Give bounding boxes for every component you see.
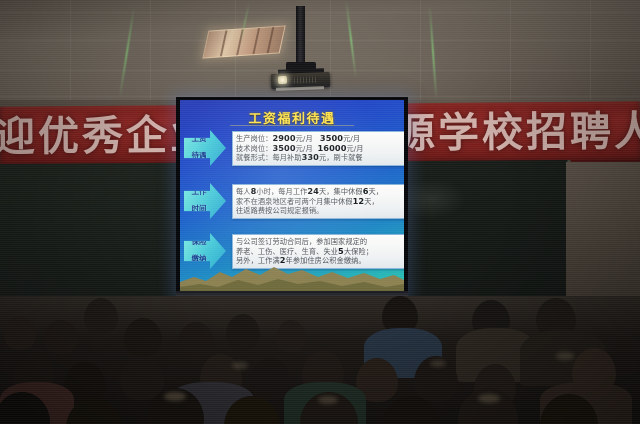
section-arrow-wage: 工资 待遇 — [184, 130, 226, 166]
arrow-label-line2: 时间 — [186, 205, 212, 214]
slide-text-line: 每人8小时，每月工作24天，集中休假6天， — [236, 187, 402, 197]
section-arrow-worktime: 工作 时间 — [184, 183, 226, 219]
slide-text-line: 往返路费按公司规定报销。 — [236, 206, 402, 216]
arrow-label-line1: 工作 — [186, 188, 212, 197]
audience-head — [84, 298, 118, 334]
hair-highlight — [232, 362, 248, 369]
slide-text-line: 家不在酒泉地区者可两个月集中休假12天， — [236, 197, 402, 207]
projector-mount-pole — [296, 6, 305, 64]
hair-highlight — [430, 360, 446, 367]
audience-head — [276, 320, 306, 352]
audience-head — [178, 322, 214, 358]
projector-vent — [292, 77, 318, 84]
hair-highlight — [556, 352, 574, 360]
audience-head — [4, 316, 36, 350]
section-textbox-wage: 生产岗位：2900元/月 3500元/月 技术岗位：3500元/月 16000元… — [232, 131, 404, 166]
slide-text-line: 与公司签订劳动合同后，参加国家规定的 — [236, 237, 402, 247]
audience-head — [124, 318, 162, 356]
projected-slide: 工资福利待遇 工资 待遇 生产岗位：2900元/月 3500元/月 技术岗位：3… — [180, 100, 404, 294]
slide-text-line: 养老、工伤、医疗、生育、失业5大保险； — [236, 247, 402, 257]
ceiling — [0, 0, 640, 108]
arrow-label-line1: 保险 — [186, 238, 212, 247]
audience-head — [250, 358, 290, 400]
hair-highlight — [478, 394, 500, 403]
audience-head — [226, 314, 260, 350]
slide-mountain-graphic — [180, 258, 404, 294]
hair-highlight — [318, 396, 338, 404]
slide-text-line: 就餐形式：每月补助330元，刷卡就餐 — [236, 153, 402, 163]
lecture-hall-photo: 迎优秀企业 源学校招聘人才 工资福利待遇 工资 待遇 生产岗位：2900元/月 … — [0, 0, 640, 424]
hair-highlight — [164, 392, 186, 401]
back-wall-right-panel — [566, 162, 640, 312]
section-textbox-worktime: 每人8小时，每月工作24天，集中休假6天， 家不在酒泉地区者可两个月集中休假12… — [232, 184, 404, 219]
ceiling-tile-grid — [0, 0, 640, 108]
slide-text-line: 技术岗位：3500元/月 16000元/月 — [236, 144, 402, 154]
arrow-label-line1: 工资 — [186, 135, 212, 144]
projector-lens — [278, 76, 287, 84]
arrow-label-line2: 待遇 — [186, 152, 212, 161]
slide-title-underline — [230, 125, 354, 126]
audience-head — [44, 320, 78, 354]
seated-audience — [0, 296, 640, 424]
banner-text-right: 源学校招聘人才 — [394, 107, 640, 158]
